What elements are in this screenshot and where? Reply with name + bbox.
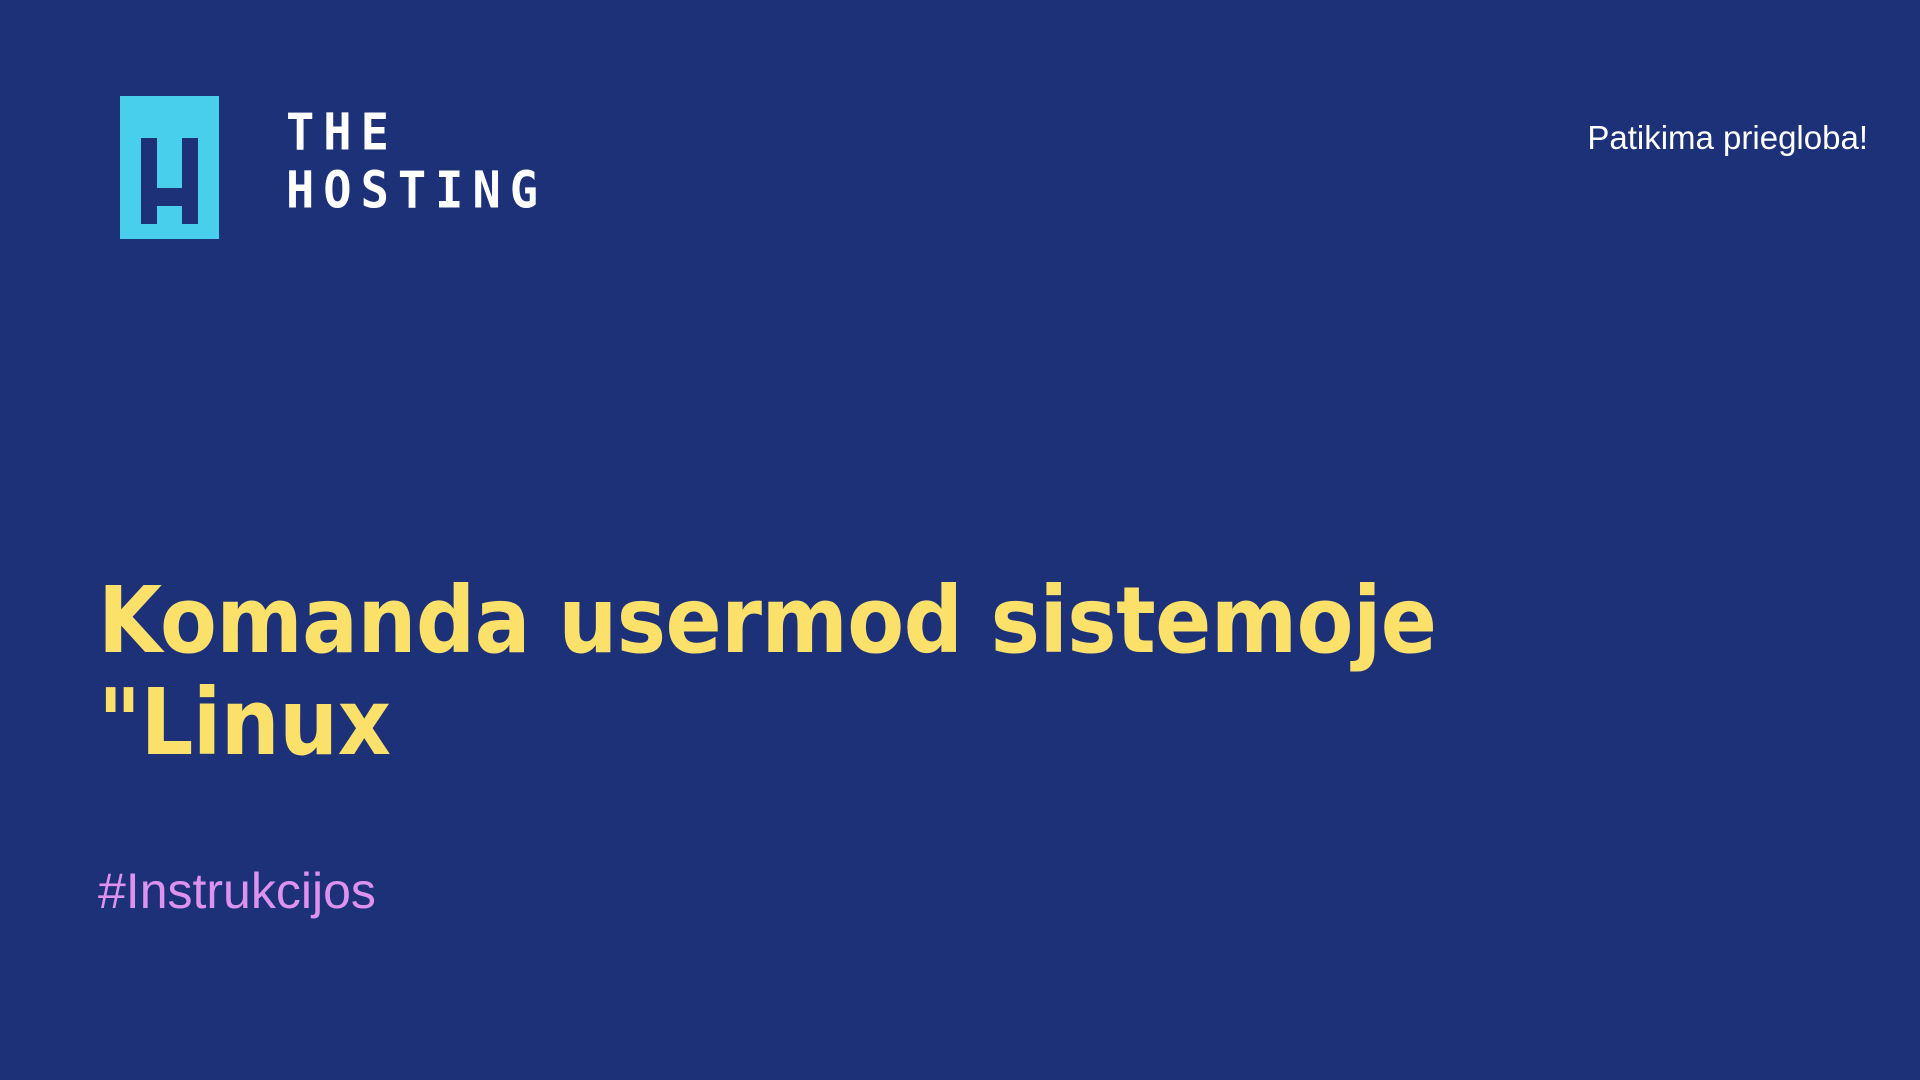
site-header: THE HOSTING Patikima priegloba! <box>0 0 1920 260</box>
brand-line-hosting: HOSTING <box>286 160 547 223</box>
brand-line-the: THE <box>286 102 547 165</box>
brand-logo[interactable]: THE HOSTING <box>98 96 547 239</box>
page-title: Komanda usermod sistemoje "Linux <box>98 570 1558 774</box>
header-tagline: Patikima priegloba! <box>1587 118 1868 158</box>
th-monogram-logo-icon <box>98 96 241 239</box>
main-content: Komanda usermod sistemoje "Linux #Instru… <box>98 570 1658 920</box>
brand-wordmark: THE HOSTING <box>286 96 547 218</box>
promo-banner: THE HOSTING Patikima priegloba! Komanda … <box>0 0 1920 1080</box>
category-tag[interactable]: #Instrukcijos <box>98 862 1658 920</box>
